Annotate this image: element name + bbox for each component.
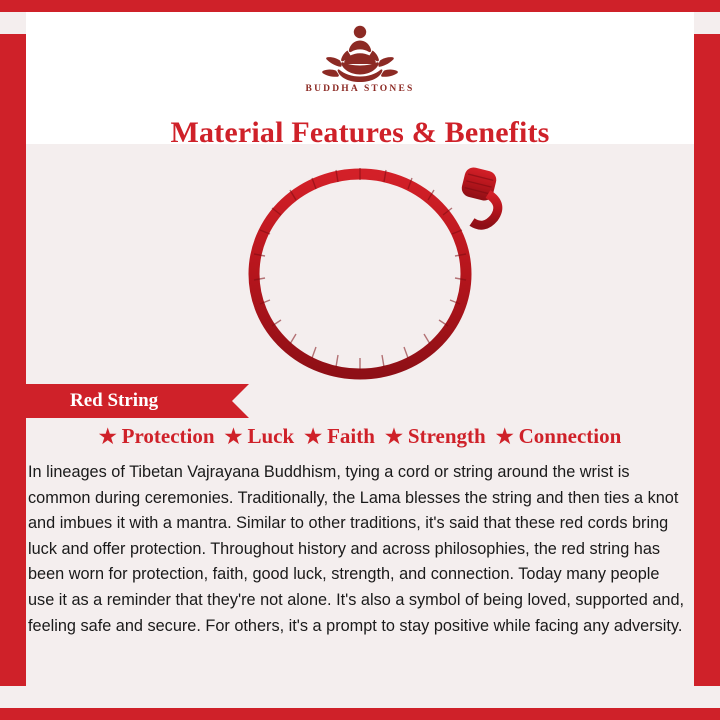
keyword-item-protection: ★ Protection: [99, 424, 215, 449]
frame-notch-top-right: [694, 12, 720, 34]
keyword-label: Strength: [408, 424, 486, 449]
star-icon: ★: [99, 427, 117, 447]
keyword-label: Protection: [122, 424, 215, 449]
infographic-page: BUDDHA STONES Material Features & Benefi…: [0, 0, 720, 720]
benefit-keyword-list: ★ Protection ★ Luck ★ Faith ★ Strength ★…: [26, 424, 694, 449]
keyword-label: Connection: [519, 424, 622, 449]
frame-border-right: [694, 0, 720, 720]
content-area: BUDDHA STONES Material Features & Benefi…: [26, 12, 694, 708]
keyword-label: Luck: [247, 424, 294, 449]
frame-border-top: [0, 0, 720, 12]
keyword-label: Faith: [327, 424, 375, 449]
frame-notch-top-left: [0, 12, 26, 34]
star-icon: ★: [385, 427, 403, 447]
keyword-item-connection: ★ Connection: [486, 424, 622, 449]
keyword-item-faith: ★ Faith: [294, 424, 375, 449]
frame-notch-bottom-right: [694, 686, 720, 708]
frame-border-bottom: [0, 708, 720, 720]
keyword-item-luck: ★ Luck: [215, 424, 295, 449]
material-label: Red String: [26, 390, 158, 412]
lotus-meditation-icon: [306, 20, 414, 82]
star-icon: ★: [225, 427, 243, 447]
frame-notch-bottom-left: [0, 686, 26, 708]
brand-logo: BUDDHA STONES: [26, 20, 694, 94]
product-image: [26, 144, 694, 389]
brand-name: BUDDHA STONES: [26, 84, 694, 94]
frame-border-left: [0, 0, 26, 720]
star-icon: ★: [304, 427, 322, 447]
description-paragraph: In lineages of Tibetan Vajrayana Buddhis…: [26, 460, 694, 639]
material-label-tab: Red String: [26, 384, 232, 418]
red-string-bracelet-illustration: [26, 144, 694, 389]
keyword-item-strength: ★ Strength: [375, 424, 486, 449]
star-icon: ★: [496, 427, 514, 447]
